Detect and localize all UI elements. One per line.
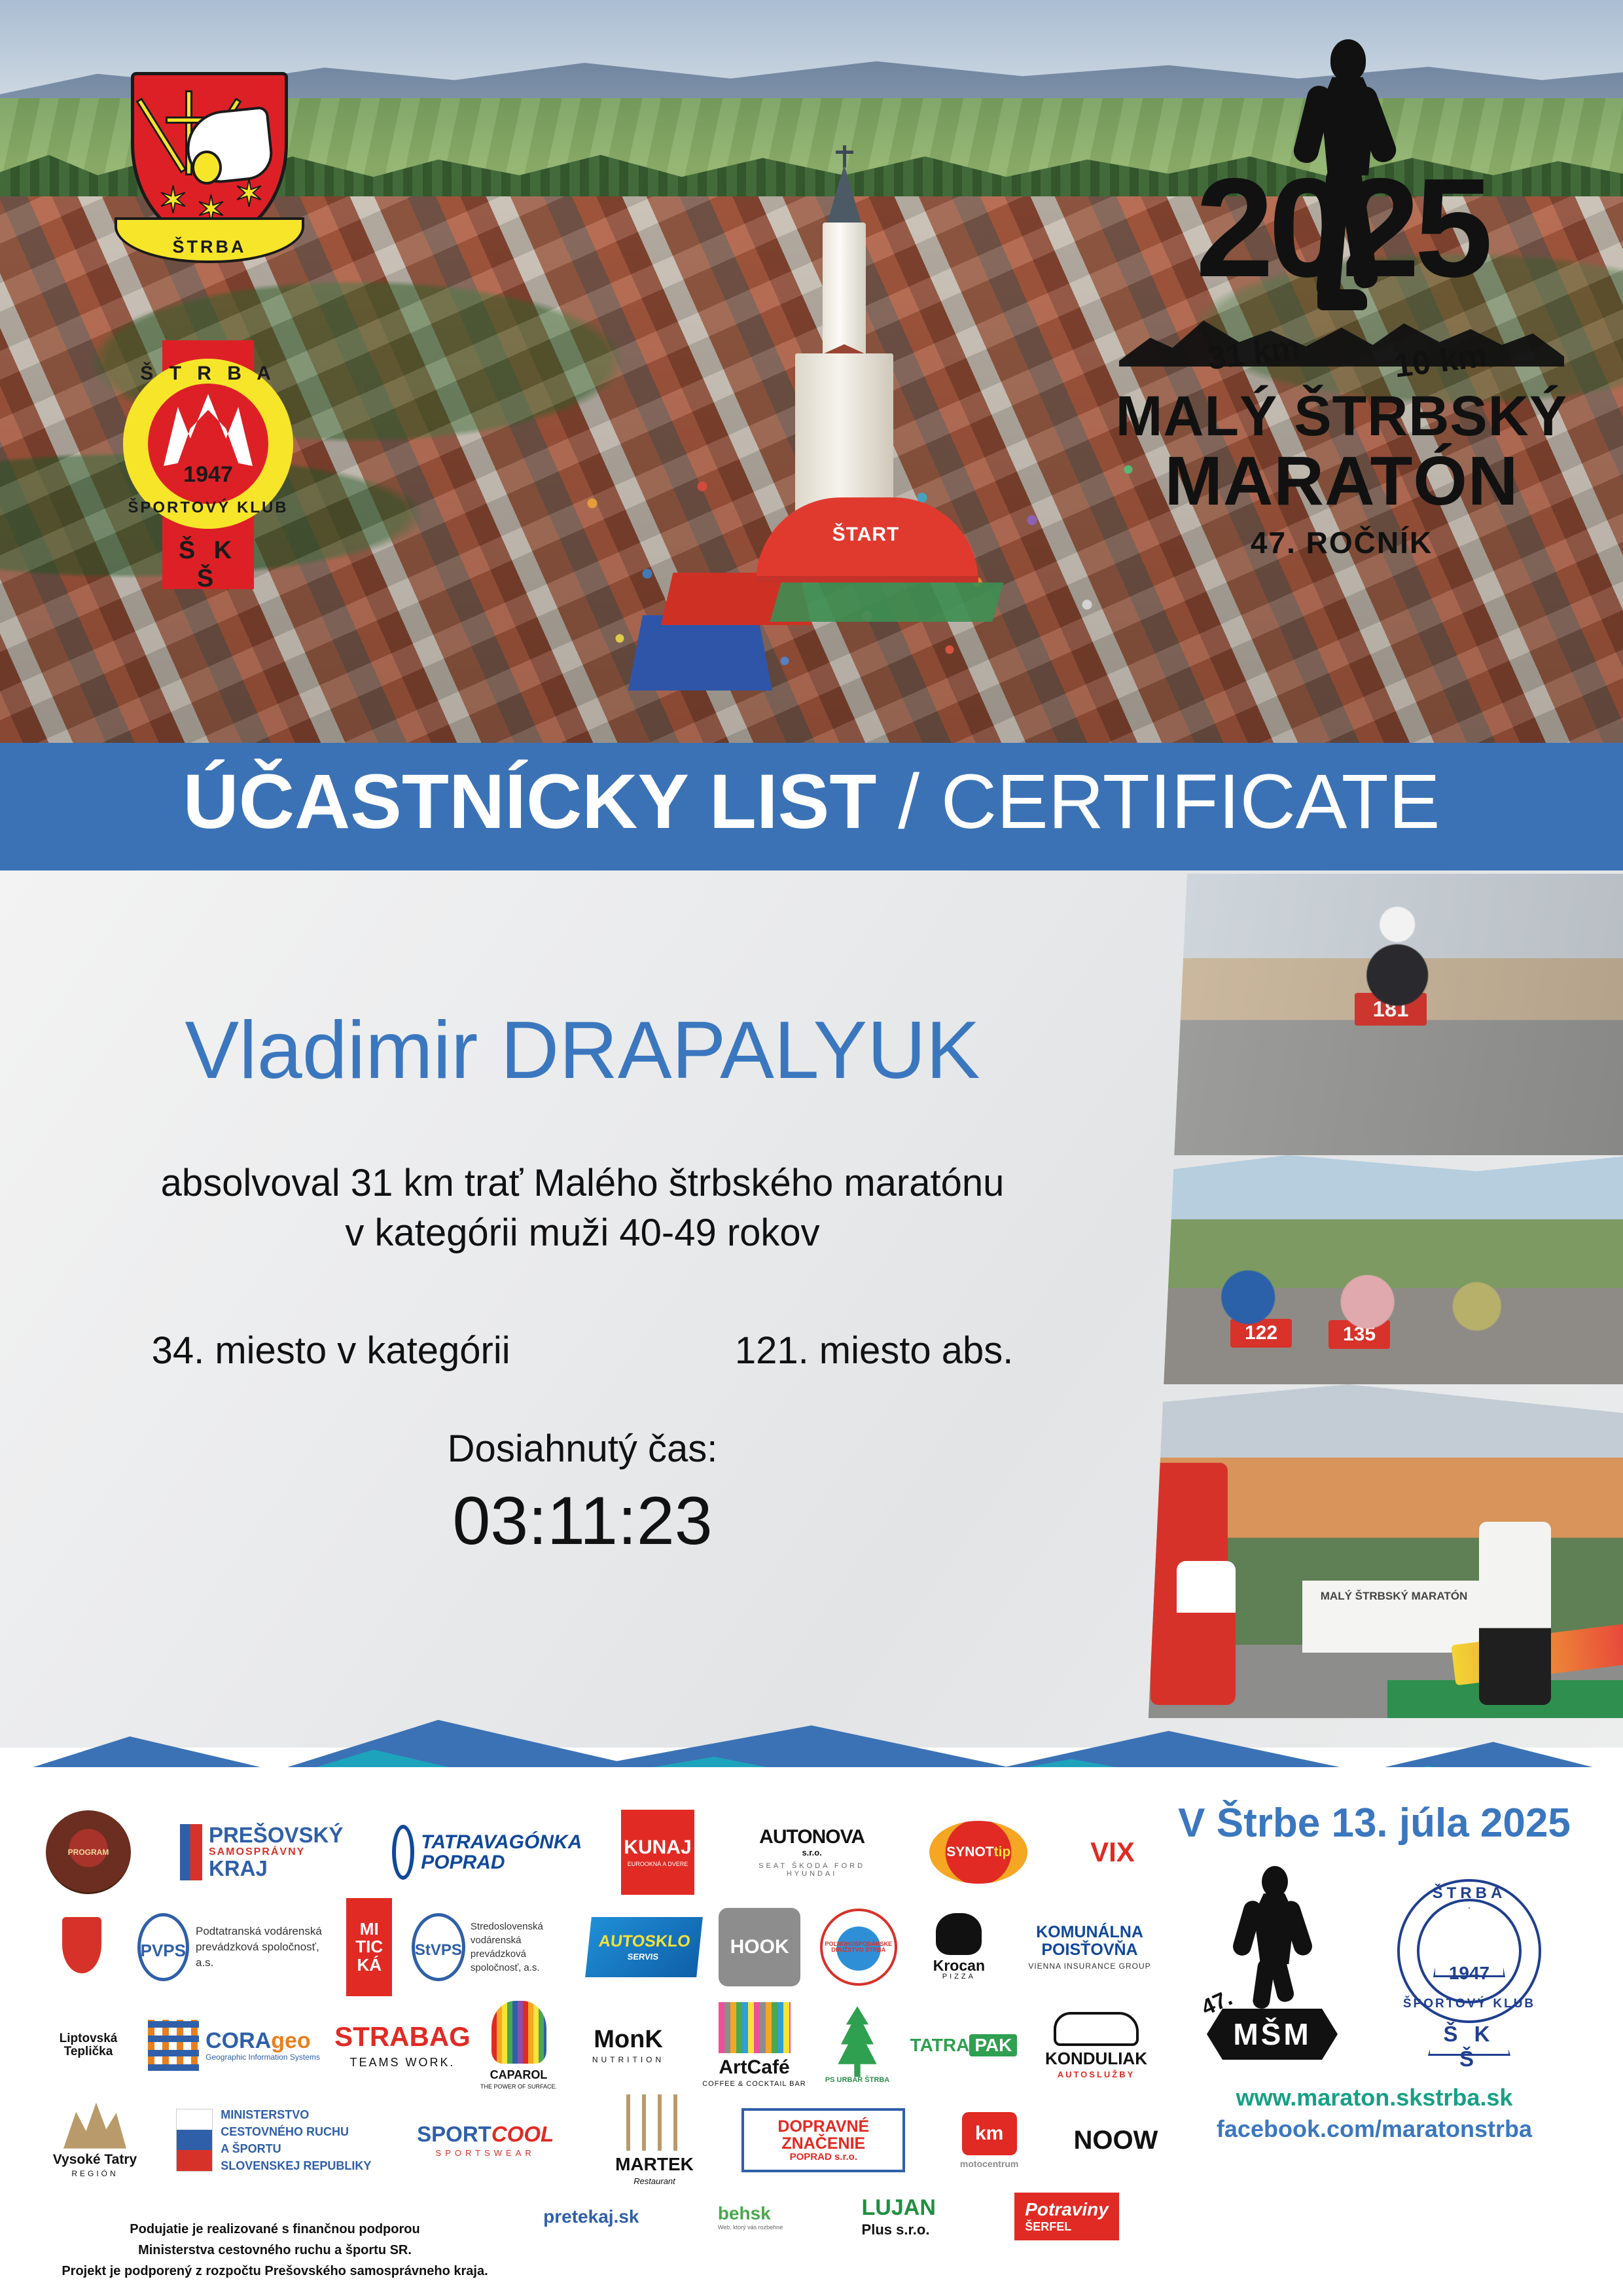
synot-name: SYNOT (946, 1845, 993, 1859)
placement-row: 34. miesto v kategórii 121. miesto abs. (39, 1329, 1126, 1372)
caparol-elephant-icon (491, 2001, 546, 2064)
event-year: 2025 (1113, 157, 1571, 298)
event-edition: 47. ROČNÍK (1113, 525, 1571, 560)
photo-finish-line: MALÝ ŠTRBSKÝ MARATÓN (1139, 1384, 1623, 1718)
sponsor-liptovska-teplicka-label: Liptovská Teplička (46, 2032, 131, 2058)
sponsor-row-4: Vysoké Tatry REGIÓN MINISTERSTVO CESTOVN… (46, 2094, 1158, 2186)
partner-logos: pretekaj.sk behsk Web, ktorý vás rozbehn… (504, 2193, 1158, 2240)
komunalna-line-2: POISŤOVŇA (1041, 1941, 1137, 1958)
sponsor-tatrapak: TATRAPAK (905, 2034, 1023, 2056)
website-url[interactable]: www.maraton.skstrba.sk (1145, 2082, 1603, 2113)
stvps-description: Stredoslovenská vodárenská prevádzková s… (471, 1920, 569, 1975)
corageo-tagline: Geographic Information Systems (205, 2053, 320, 2062)
caparol-name: CAPAROL (490, 2069, 548, 2081)
liptovska-line-1: Liptovská (60, 2032, 118, 2045)
martek-name: MARTEK (615, 2155, 694, 2174)
sponsor-autosklo-servis: AUTOSKLO SERVIS (585, 1917, 703, 1977)
msm-runner-icon (1237, 1866, 1309, 2003)
sponsor-tatravagonka: TATRAVAGÓNKA POPRAD (392, 1825, 582, 1880)
monk-name: MonK (594, 2027, 663, 2053)
sponsor-monk-nutrition: MonK NUTRITION (569, 2027, 687, 2064)
footer-emblems: 47. MŠM ŠTRBA 1947 ŠPORTOVÝ KLUB Š K Š (1145, 1866, 1603, 2062)
finish-line-banner-text: MALÝ ŠTRBSKÝ MARATÓN (1302, 1581, 1486, 1653)
gold-star-1-icon: ✶ (158, 187, 188, 213)
gold-star-3-icon: ✶ (234, 181, 264, 207)
certificate-title: ÚČASTNÍCKY LIST / CERTIFICATE (0, 753, 1623, 851)
hook-name: HOOK (730, 1937, 789, 1958)
kunaj-name: KUNAJ (624, 1837, 691, 1858)
sponsor-sportcool: SPORTCOOL SPORTSWEAR (404, 2123, 567, 2157)
komunalna-group: VIENNA INSURANCE GROUP (1028, 1962, 1150, 1971)
sponsor-ministerstvo: MINISTERSTVO CESTOVNÉHO RUCHU A ŠPORTU S… (175, 2106, 372, 2174)
sponsor-autonova: AUTONOVA s.r.o. SEAT ŠKODA FORD HYUNDAI (734, 1827, 891, 1878)
club-logo-year: 1947 (148, 462, 268, 488)
finish-time: 03:11:23 (39, 1482, 1126, 1560)
sponsor-row-3: Liptovská Teplička CORAgeo Geographic In… (46, 1996, 1158, 2094)
slovak-flag-icon (176, 2109, 213, 2172)
dz-line-3: POPRAD s.r.o. (777, 2152, 869, 2162)
krocan-sub: PIZZA (942, 1973, 976, 1981)
issue-date: V Štrbe 13. júla 2025 (1145, 1800, 1603, 1846)
certificate-title-bold: ÚČASTNÍCKY LIST (183, 759, 877, 845)
artcafe-bars-icon (719, 2002, 791, 2053)
sponsor-pretekaj-sk: pretekaj.sk (543, 2206, 639, 2227)
sks-stamp-year: 1947 (1417, 1963, 1522, 1984)
sponsor-hook: HOOK (719, 1908, 800, 1986)
club-logo-top-text: Š T R B A (123, 363, 293, 385)
pvps-description: Podtatranská vodárenská prevádzková spol… (196, 1924, 327, 1971)
urbar-tree-icon (832, 2006, 883, 2077)
sponsor-row-2: PVPS Podtatranská vodárenská prevádzková… (46, 1898, 1158, 1996)
artcafe-name: ArtCafé (719, 2057, 789, 2078)
footer: PROGRAM PREŠOVSKÝ SAMOSPRÁVNY KRAJ TATRA… (0, 1767, 1623, 2296)
sportcool-sub: SPORTSWEAR (436, 2149, 535, 2158)
sponsor-row-1: PROGRAM PREŠOVSKÝ SAMOSPRÁVNY KRAJ TATRA… (46, 1806, 1158, 1898)
vysoke-tatry-name: Vysoké Tatry (53, 2153, 137, 2167)
place-absolute: 121. miesto abs. (735, 1329, 1014, 1372)
krocan-name: Krocan (933, 1958, 985, 1973)
photo-finish-woman: 181 (1139, 874, 1623, 1155)
pd-strba-name: POĽNOHOSPODÁRSKE DRUŽSTVO ŠTRBA (823, 1941, 895, 1954)
sponsor-presovsky-kraj: PREŠOVSKÝ SAMOSPRÁVNY KRAJ (170, 1824, 353, 1880)
emblem-sks-stamp: ŠTRBA 1947 ŠPORTOVÝ KLUB Š K Š (1387, 1866, 1551, 2062)
vix-name: VIX (1090, 1838, 1135, 1867)
martek-cutlery-icon (626, 2094, 683, 2151)
kunaj-tagline: EUROOKNÁ A DVERE (628, 1861, 688, 1867)
sponsor-synot-tip: SYNOTtip (929, 1821, 1027, 1884)
strabag-tagline: TEAMS WORK. (349, 2056, 455, 2069)
strabag-name: STRABAG (334, 2022, 471, 2051)
sponsor-dopravne-znacenie: DOPRAVNÉ ZNAČENIE POPRAD s.r.o. (741, 2108, 905, 2172)
konduliak-name: KONDULIAK (1045, 2050, 1147, 2068)
sks-club-logo: Š T R B A 1947 ŠPORTOVÝ KLUB Š K Š (110, 334, 306, 596)
ministerstvo-line-3: A ŠPORTU (221, 2140, 371, 2157)
beh-tld: sk (751, 2203, 771, 2223)
sponsor-km-motocentrum: km motocentrum (937, 2112, 1042, 2169)
achievement-line-2: v kategórii muži 40-49 rokov (39, 1208, 1126, 1258)
martek-sub: Restaurant (633, 2177, 675, 2186)
photo1-bib-number: 181 (1355, 993, 1427, 1026)
msm-runner-head (1262, 1866, 1288, 1897)
gold-cuff (192, 151, 222, 185)
corageo-geo: geo (271, 2028, 310, 2053)
liptovska-line-2: Teplička (64, 2045, 113, 2058)
footer-right-column: V Štrbe 13. júla 2025 47. MŠM (1145, 1800, 1603, 2145)
sponsor-program-label: PROGRAM (68, 1848, 109, 1857)
msm-diamond-label: MŠM (1207, 2009, 1338, 2060)
sponsor-stvps: StVPS Stredoslovenská vodárenská prevádz… (412, 1913, 569, 1981)
sponsor-liptovska-teplicka-crest (46, 1917, 118, 1977)
sponsor-program-trencin: PROGRAM (46, 1810, 131, 1894)
vysoke-tatry-sub: REGIÓN (71, 2170, 118, 2178)
km-badge-icon: km (962, 2112, 1017, 2155)
coat-of-arms-banner: ŠTRBA (115, 217, 304, 272)
athlete-name: Vladimir DRAPALYUK (39, 1001, 1126, 1100)
church-cross-icon (843, 145, 846, 168)
sportcool-name: SPORTCOOL (417, 2123, 554, 2146)
certificate-page: ŠTART ✶ ✶ ✶ ŠTRBA Š T R B A 1947 ŠPORTOV… (0, 0, 1623, 2296)
beh-tagline: Web, ktorý vás rozbehne (718, 2224, 783, 2231)
dz-line-2: ZNAČENIE (777, 2135, 869, 2152)
sponsor-vix: VIX (1067, 1809, 1158, 1895)
autosklo-name: AUTOSKLO (597, 1933, 691, 1950)
sponsor-row-5: Podujatie je realizované s finančnou pod… (46, 2193, 1158, 2282)
photo2-bib-number-2: 135 (1329, 1320, 1390, 1349)
sponsor-miticka: MI TIC KÁ (346, 1898, 392, 1996)
runner-head (1330, 39, 1366, 81)
stvps-logo-icon: StVPS (412, 1913, 465, 1981)
sponsor-beh-sk: behsk Web, ktorý vás rozbehne (718, 2203, 783, 2231)
sponsor-lujan-plus: LUJAN Plus s.r.o. (862, 2195, 936, 2238)
facebook-url[interactable]: facebook.com/maratonstrba (1145, 2113, 1603, 2145)
dz-text-block: DOPRAVNÉ ZNAČENIE POPRAD s.r.o. (777, 2118, 869, 2162)
corageo-grid-icon (148, 2020, 199, 2071)
psk-line-1: PREŠOVSKÝ (209, 1824, 343, 1847)
miticka-name: MI TIC KÁ (346, 1920, 392, 1974)
emblem-msm: 47. MŠM (1198, 1866, 1348, 2062)
sponsor-pd-strba: POĽNOHOSPODÁRSKE DRUŽSTVO ŠTRBA (820, 1909, 897, 1986)
potraviny-name: Potraviny (1025, 2199, 1109, 2219)
sportcool-part-2: COOL (491, 2122, 554, 2146)
potraviny-sub: ŠERFEL (1025, 2220, 1109, 2234)
sponsor-martek: MARTEK Restaurant (599, 2094, 710, 2185)
konduliak-car-icon (1054, 2012, 1139, 2046)
caparol-tagline: THE POWER OF SURFACE. (480, 2084, 557, 2090)
sponsor-vysoke-tatry: Vysoké Tatry REGIÓN (46, 2103, 144, 2178)
club-logo-bottom-text: ŠPORTOVÝ KLUB (123, 499, 293, 517)
start-arch-label: ŠTART (817, 524, 915, 546)
sks-stamp-top-text: ŠTRBA (1397, 1884, 1541, 1903)
tatrapak-line-2: PAK (969, 2034, 1017, 2056)
time-label: Dosiahnutý čas: (39, 1427, 1126, 1471)
vysoke-tatry-peaks-icon (63, 2103, 126, 2149)
ministerstvo-line-4: SLOVENSKEJ REPUBLIKY (221, 2157, 371, 2174)
komunalna-line-1: KOMUNÁLNA (1036, 1924, 1143, 1941)
sponsor-konduliak: KONDULIAK AUTOSLUŽBY (1034, 2012, 1158, 2079)
tatravagonka-mark-icon (392, 1825, 414, 1880)
event-name-line1: MALÝ ŠTRBSKÝ (1113, 386, 1571, 446)
ministerstvo-line-1: MINISTERSTVO (221, 2106, 371, 2123)
tatravagonka-text-block: TATRAVAGÓNKA POPRAD (421, 1832, 582, 1873)
artcafe-sub: COFFEE & COCKTAIL BAR (702, 2081, 806, 2089)
autosklo-sub: SERVIS (626, 1952, 658, 1962)
sponsor-corageo: CORAgeo Geographic Information Systems (143, 2020, 326, 2071)
psk-flag-bar (180, 1824, 202, 1880)
sponsor-potraviny-serfel: Potraviny ŠERFEL (1014, 2193, 1119, 2240)
sponsor-artcafe: ArtCafé COFFEE & COCKTAIL BAR (699, 2002, 810, 2088)
autonova-brands: SEAT ŠKODA FORD HYUNDAI (734, 1863, 891, 1878)
sponsor-krocan-pizza: Krocan PIZZA (916, 1913, 1001, 1981)
krocan-turkey-icon (936, 1913, 982, 1955)
liptovska-teplicka-crest-icon (62, 1917, 101, 1973)
contact-urls: www.maraton.skstrba.sk facebook.com/mara… (1145, 2082, 1603, 2145)
corageo-cora: CORA (205, 2028, 271, 2053)
photo-trail-runners: 122 135 (1139, 1155, 1623, 1384)
lujan-name: LUJAN (862, 2195, 936, 2221)
sponsor-kunaj: KUNAJ EUROOKNÁ A DVERE (621, 1810, 694, 1895)
pvps-logo-icon: PVPS (137, 1913, 189, 1981)
photo-collage: 181 122 135 MALÝ ŠTRBSKÝ MARATÓN (1139, 874, 1623, 1718)
certificate-title-regular: / CERTIFICATE (898, 759, 1440, 845)
blue-tent (628, 615, 772, 691)
lujan-sub: Plus s.r.o. (862, 2221, 936, 2238)
event-name-line2: MARATÓN (1113, 445, 1571, 517)
tatrapak-line-1: TATRA (910, 2036, 970, 2054)
dz-line-1: DOPRAVNÉ (777, 2118, 869, 2135)
beh-name: beh (718, 2203, 751, 2223)
place-in-category: 34. miesto v kategórii (152, 1329, 510, 1372)
sks-stamp-bottom-text: ŠPORTOVÝ KLUB (1397, 1997, 1541, 2011)
monk-sub: NUTRITION (592, 2056, 664, 2064)
sponsor-logo-area: PROGRAM PREŠOVSKÝ SAMOSPRÁVNY KRAJ TATRA… (46, 1806, 1158, 2232)
tatravagonka-line-2: POPRAD (421, 1852, 582, 1873)
sponsor-ps-urbar-strba: PS URBÁR ŠTRBA (821, 2006, 893, 2085)
tatravagonka-line-1: TATRAVAGÓNKA (421, 1832, 582, 1853)
achievement-text: absolvoval 31 km trať Malého štrbského m… (39, 1158, 1126, 1258)
msm-runner-body (1254, 1893, 1294, 1964)
strba-coat-of-arms: ✶ ✶ ✶ ŠTRBA (115, 65, 304, 275)
sponsor-pvps: PVPS Podtatranská vodárenská prevádzková… (137, 1913, 327, 1981)
achievement-line-1: absolvoval 31 km trať Malého štrbského m… (39, 1158, 1126, 1208)
club-logo-abbrev: Š K Š (162, 537, 254, 593)
psk-text-block: PREŠOVSKÝ SAMOSPRÁVNY KRAJ (209, 1824, 343, 1880)
ministerstvo-text-block: MINISTERSTVO CESTOVNÉHO RUCHU A ŠPORTU S… (221, 2106, 371, 2174)
funding-fine-print: Podujatie je realizované s finančnou pod… (46, 2193, 504, 2282)
km-name: motocentrum (960, 2159, 1018, 2169)
sponsor-strabag: STRABAG TEAMS WORK. (337, 2022, 468, 2069)
autonova-legal: s.r.o. (802, 1848, 821, 1857)
ministerstvo-line-2: CESTOVNÉHO RUCHU (221, 2123, 371, 2140)
psk-line-3: KRAJ (209, 1857, 343, 1880)
corageo-name: CORAgeo (205, 2030, 320, 2053)
green-start-mat (770, 583, 1003, 622)
event-logo: 2025 31 km 10 km MALÝ ŠTRBSKÝ MARATÓN 47… (1113, 39, 1571, 602)
church-spire (827, 165, 862, 225)
urbar-name: PS URBÁR ŠTRBA (825, 2077, 889, 2085)
sponsor-komunalna-poistovna: KOMUNÁLNA POISŤOVŇA VIENNA INSURANCE GRO… (1021, 1924, 1158, 1970)
coat-of-arms-banner-text: ŠTRBA (115, 237, 304, 257)
autonova-name: AUTONOVA (759, 1827, 865, 1848)
sks-stamp-abbrev: Š K Š (1428, 2022, 1510, 2072)
sponsor-caparol: CAPAROL THE POWER OF SURFACE. (480, 2001, 558, 2090)
photo2-bib-number-1: 122 (1230, 1319, 1292, 1348)
sportcool-part-1: SPORT (417, 2122, 491, 2146)
synot-tip-suffix: tip (994, 1845, 1011, 1859)
konduliak-sub: AUTOSLUŽBY (1058, 2070, 1135, 2079)
corageo-text-block: CORAgeo Geographic Information Systems (205, 2030, 320, 2061)
